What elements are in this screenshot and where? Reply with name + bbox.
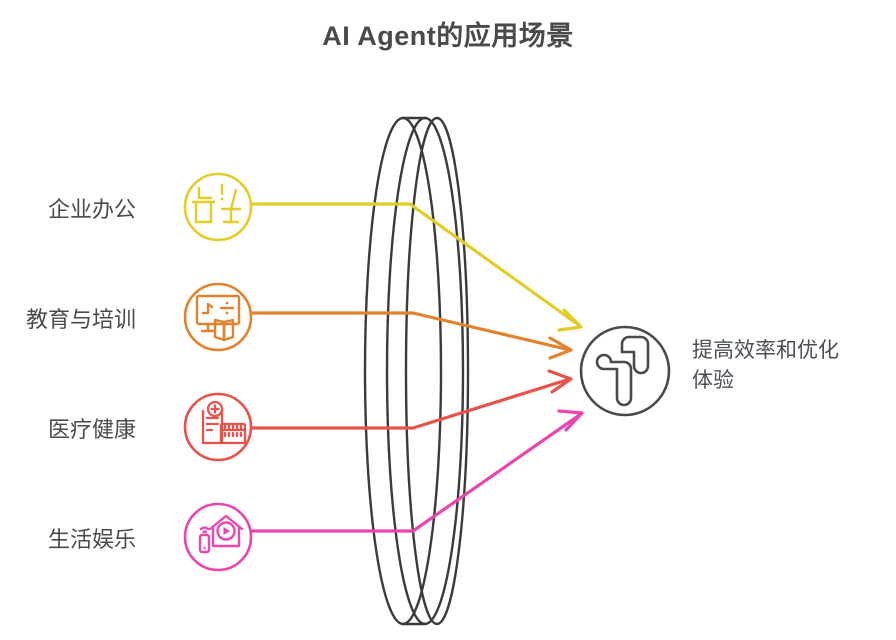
branch-node-enterprise[interactable] <box>185 174 251 240</box>
branch-label-enterprise: 企业办公 <box>48 192 136 224</box>
connector-line <box>252 204 580 326</box>
outcome-line-1: 提高效率和优化 <box>692 339 839 362</box>
branch-circle <box>185 284 251 350</box>
lens-ellipse-front <box>365 118 441 624</box>
branch-label-lifestyle: 生活娱乐 <box>48 522 136 554</box>
outcome-label: 提高效率和优化 体验 <box>692 336 872 396</box>
connector-line <box>252 414 581 531</box>
connector-arrow-education <box>252 313 571 358</box>
connector-line <box>252 313 570 350</box>
branch-circle <box>185 504 251 570</box>
lens-ellipse-middle <box>387 118 463 624</box>
branch-label-healthcare: 医疗健康 <box>48 412 136 444</box>
branch-label-education: 教育与培训 <box>26 302 136 334</box>
connector-arrow-healthcare <box>252 371 571 428</box>
lens-ellipse-back <box>406 118 468 624</box>
hub-circle <box>581 327 669 415</box>
branch-node-healthcare[interactable] <box>185 394 251 460</box>
branch-node-lifestyle[interactable] <box>185 504 251 570</box>
connector-arrow-enterprise <box>252 204 581 330</box>
outcome-line-2: 体验 <box>692 366 872 396</box>
branch-node-education[interactable] <box>185 284 251 350</box>
central-lens-shape <box>365 118 468 624</box>
connector-line <box>252 379 570 428</box>
hub-node[interactable] <box>581 327 669 415</box>
